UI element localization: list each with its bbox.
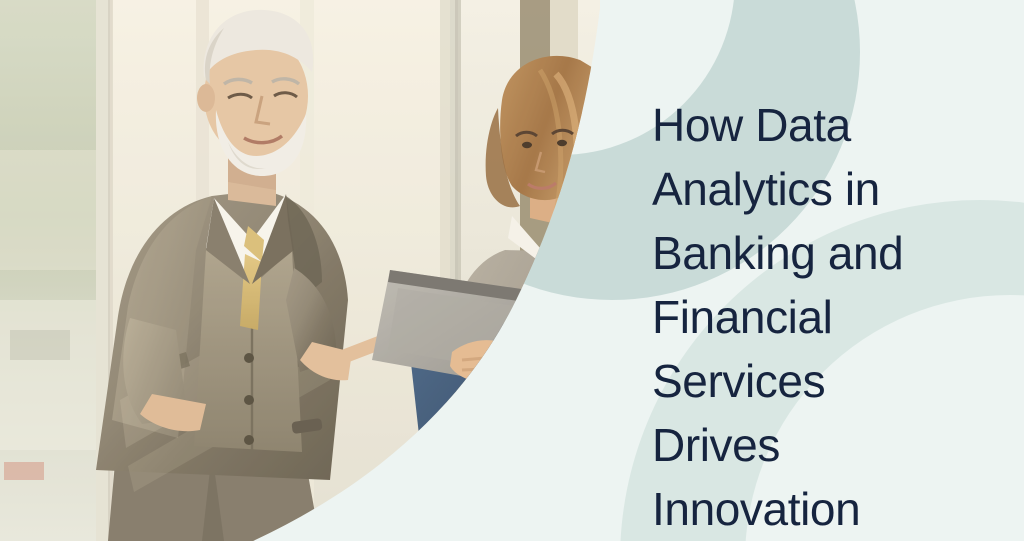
hero-photo-svg	[0, 0, 600, 541]
hero-photo	[0, 0, 600, 541]
article-hero-banner: How Data Analytics in Banking and Financ…	[0, 0, 1024, 541]
page-title: How Data Analytics in Banking and Financ…	[652, 93, 1002, 541]
